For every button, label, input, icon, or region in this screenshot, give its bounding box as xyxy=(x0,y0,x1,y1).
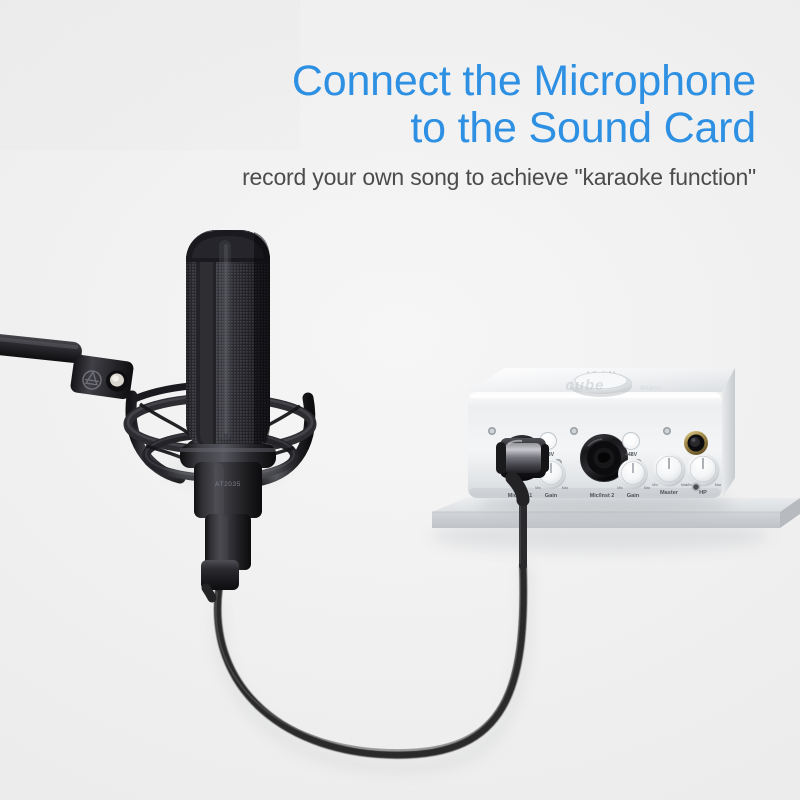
headphone-knob-max: Max xyxy=(715,483,722,487)
master-knob[interactable] xyxy=(653,454,686,487)
gain-knob-2-min: Min xyxy=(617,486,623,490)
boom-arm-clamp xyxy=(70,354,135,400)
gain-label-2: Gain xyxy=(627,493,640,499)
model-series-text: 4Nano xyxy=(640,385,661,392)
condenser-microphone: AT2035 xyxy=(168,230,288,598)
gain-knob-2[interactable] xyxy=(618,459,648,489)
headline-line-2: to the Sound Card xyxy=(0,105,756,152)
headphone-knob-min: Min xyxy=(686,483,692,487)
gain-label-1: Gain xyxy=(545,493,558,499)
gain-knob-1-max: Max xyxy=(562,486,569,490)
phantom-power-button-2[interactable] xyxy=(623,433,640,450)
phantom-power-label-2: +48V xyxy=(625,452,638,458)
microphone-model-label: AT2035 xyxy=(215,481,241,488)
master-label: Master xyxy=(660,490,679,496)
gain-knob-2-max: Max xyxy=(644,486,651,490)
input-label-2: Mic/Inst 2 xyxy=(590,493,615,499)
model-logo-cube: cube xyxy=(565,377,604,394)
master-knob-min: Min xyxy=(652,483,658,487)
headline-block: Connect the Microphone to the Sound Card… xyxy=(0,58,800,191)
power-indicator-led xyxy=(691,482,700,491)
headline-subtitle: record your own song to achieve "karaoke… xyxy=(0,164,756,191)
gain-knob-1-min: Min xyxy=(535,486,541,490)
headphone-label: HP xyxy=(699,490,707,496)
headphone-knob[interactable] xyxy=(687,454,720,487)
microphone-boom-arm xyxy=(0,333,83,364)
headphone-output-jack[interactable] xyxy=(684,431,708,455)
headline-line-1: Connect the Microphone xyxy=(0,58,756,105)
microphone-body xyxy=(194,462,262,518)
